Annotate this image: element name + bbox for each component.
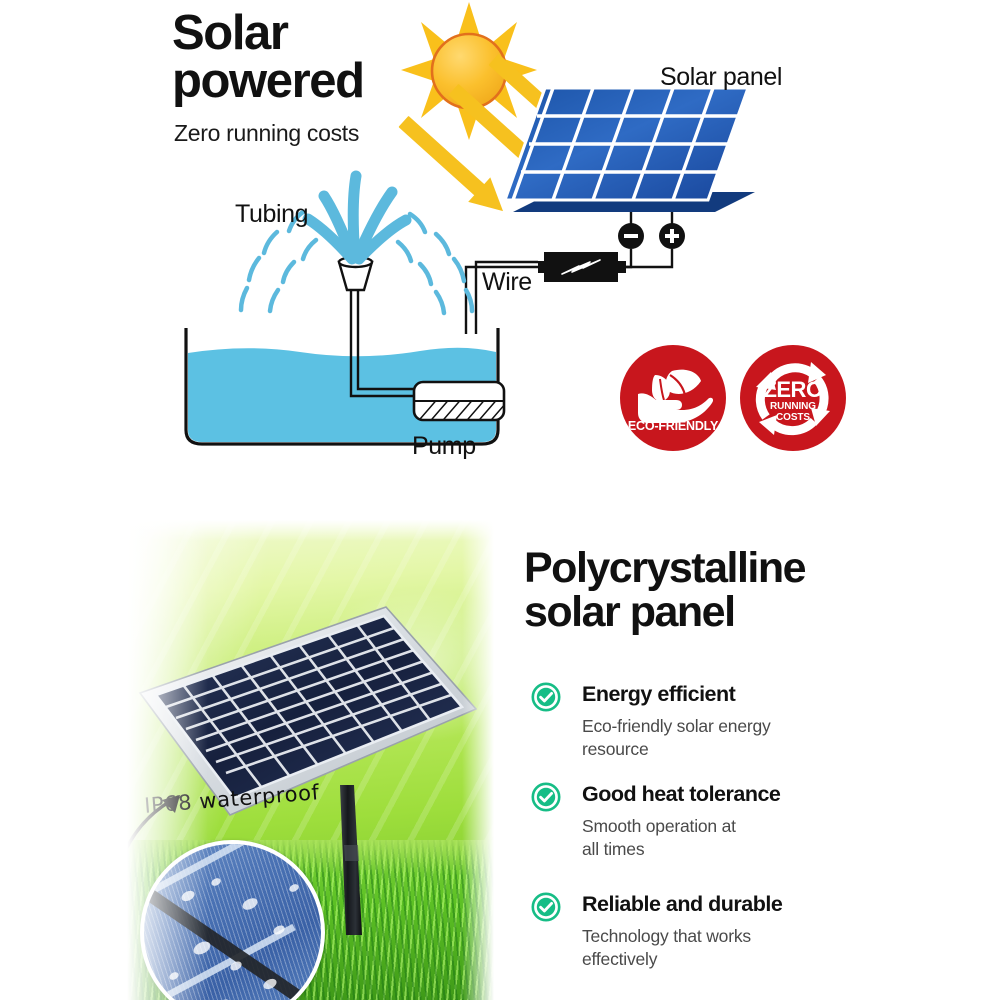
infographic-page: Solar powered Zero running costs [0,0,1000,1000]
check-circle-icon [530,681,562,713]
panel-terminals [618,212,685,249]
label-pump: Pump [412,432,476,461]
system-diagram [0,0,1000,515]
feature-title: Good heat tolerance [524,783,854,807]
product-photo: IP68 waterproof [118,515,496,1000]
polycrystalline-panel-section: IP68 waterproof [0,515,1000,1000]
pump-graphic [414,382,512,426]
feature-item: Energy efficient Eco-friendly solar ener… [524,683,854,761]
feature-item: Good heat tolerance Smooth operation at … [524,783,854,861]
check-circle-icon [530,781,562,813]
photo-fade-right [462,515,496,1000]
solar-panel-graphic [505,88,755,212]
feature-desc: Eco-friendly solar energy resource [524,715,854,761]
badge-zero-running-costs: ZERO RUNNING COSTS [740,345,846,451]
label-tubing: Tubing [235,200,308,229]
photo-fade-top [118,515,496,541]
solar-powered-section: Solar powered Zero running costs [0,0,1000,515]
section-title: Polycrystalline solar panel [524,547,805,635]
connector-box-icon [538,252,626,282]
feature-desc: Technology that works effectively [524,925,854,971]
check-circle-icon [530,891,562,923]
mounting-pole [340,785,362,935]
label-solar-panel: Solar panel [660,63,782,92]
feature-title: Reliable and durable [524,893,854,917]
feature-title: Energy efficient [524,683,854,707]
photo-fade-left [118,515,208,1000]
hand-leaf-icon [620,345,726,451]
badge-eco-friendly: ECO-FRIENDLY [620,345,726,451]
badge-eco-label: ECO-FRIENDLY [620,419,726,433]
badge-zero-sub-label: RUNNING COSTS [740,401,846,423]
badge-zero-main-label: ZERO [740,377,846,403]
feature-item: Reliable and durable Technology that wor… [524,893,854,971]
label-wire: Wire [482,268,532,297]
feature-desc: Smooth operation at all times [524,815,854,861]
water-spray-graphic [241,176,472,313]
